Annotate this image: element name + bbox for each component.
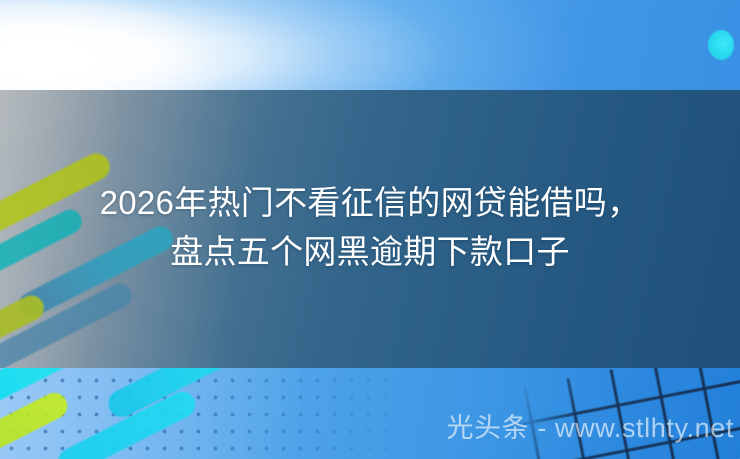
- article-cover-image: 2026年热门不看征信的网贷能借吗， 盘点五个网黑逾期下款口子 光头条 - ww…: [0, 0, 740, 459]
- middle-blue-band: [0, 90, 740, 368]
- cyan-orb-icon: [708, 30, 734, 60]
- top-sky-band: [0, 0, 740, 90]
- volleyball-net-grid: [480, 368, 740, 459]
- bottom-blue-band: [0, 368, 740, 459]
- diagonal-bars-cluster: [0, 90, 300, 368]
